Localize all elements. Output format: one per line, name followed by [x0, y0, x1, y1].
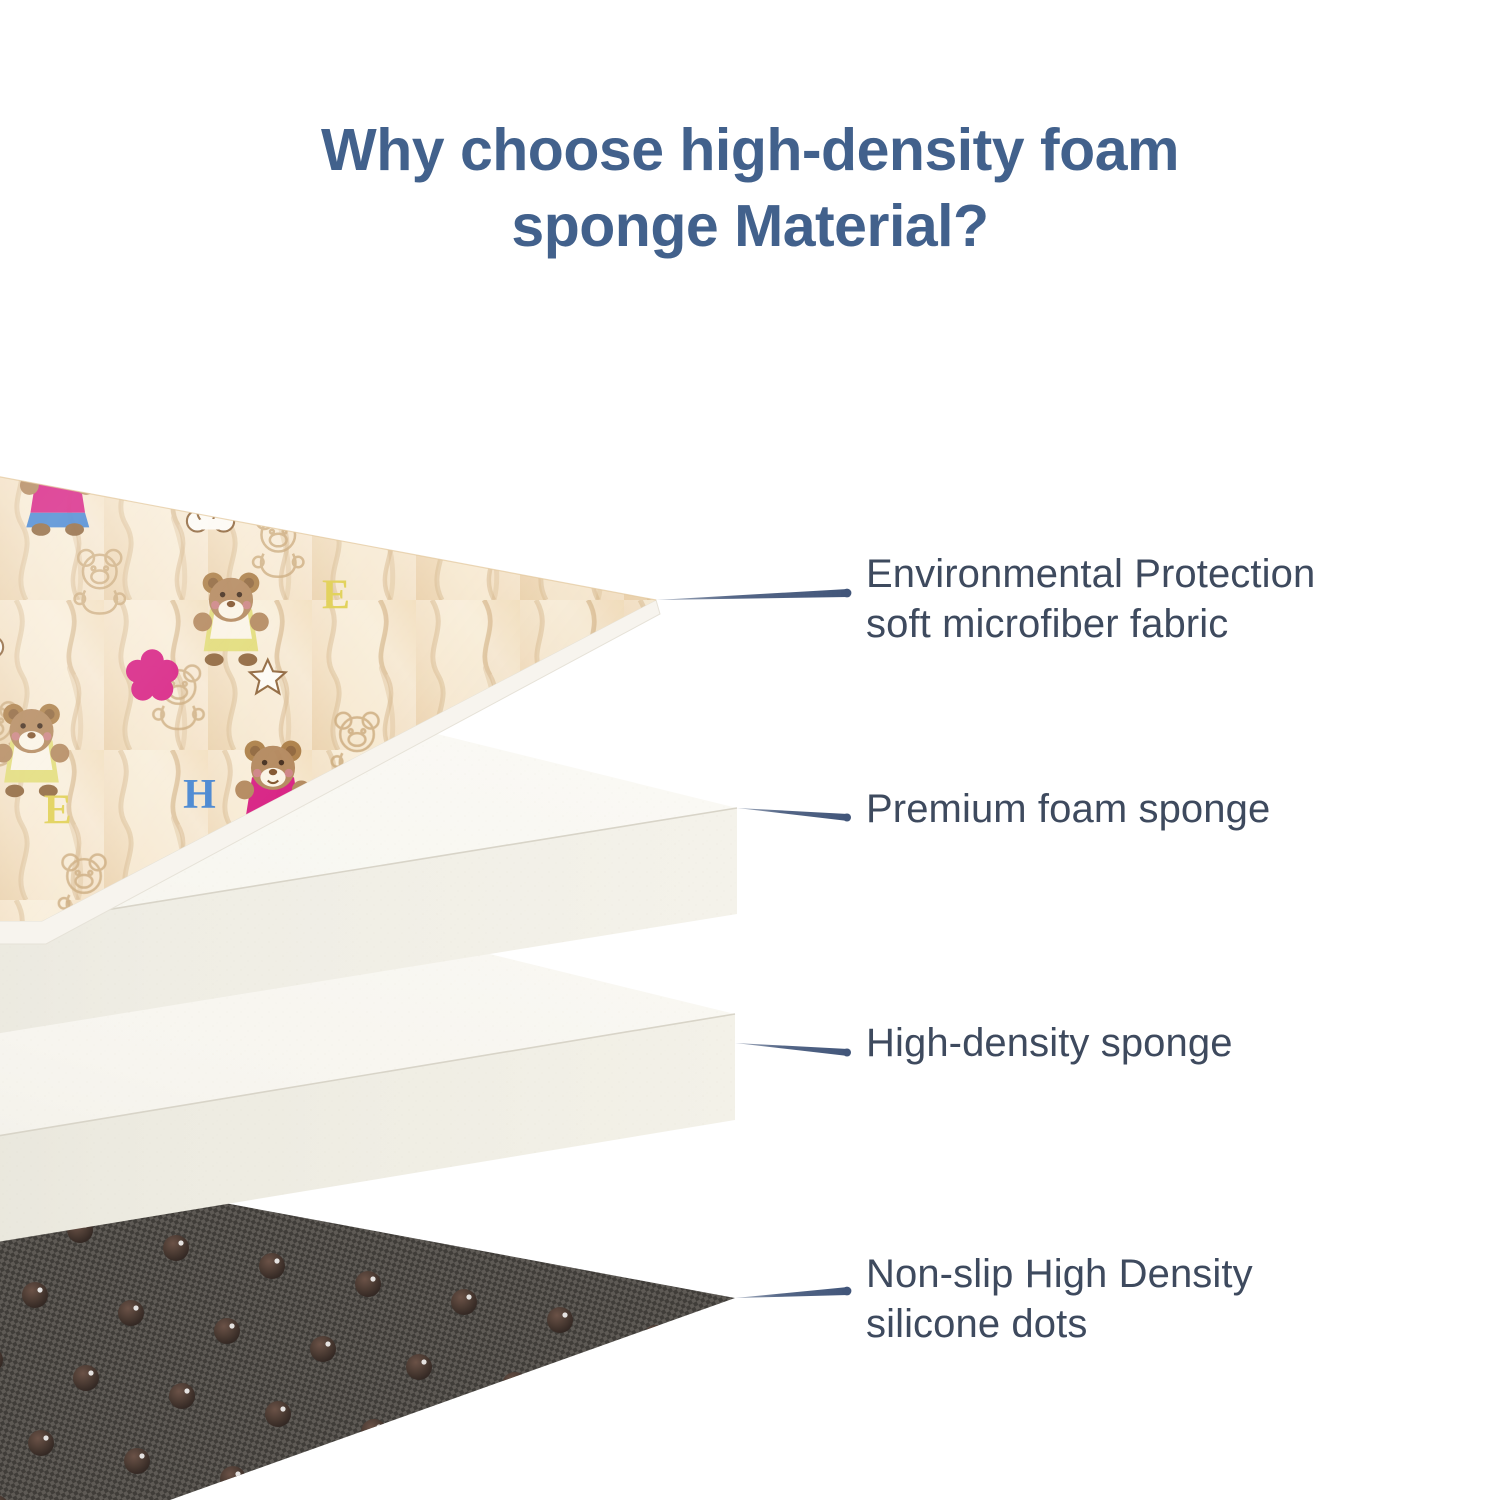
callout-label-silicone-dots: Non-slip High Density silicone dots — [866, 1249, 1253, 1349]
leader-lines — [656, 589, 851, 1298]
leader-line-fabric — [656, 589, 848, 600]
leader-line-premium-foam — [737, 808, 848, 821]
infographic-root: Why choose high-density foam sponge Mate… — [0, 0, 1500, 1500]
callout-label-fabric: Environmental Protection soft microfiber… — [866, 549, 1315, 649]
exploded-layer-diagram: B H E — [0, 0, 1500, 1500]
callout-label-high-density-foam: High-density sponge — [866, 1018, 1233, 1068]
leader-line-high-density — [735, 1043, 848, 1056]
callout-label-premium-foam: Premium foam sponge — [866, 784, 1270, 834]
leader-line-silicone — [735, 1287, 848, 1298]
